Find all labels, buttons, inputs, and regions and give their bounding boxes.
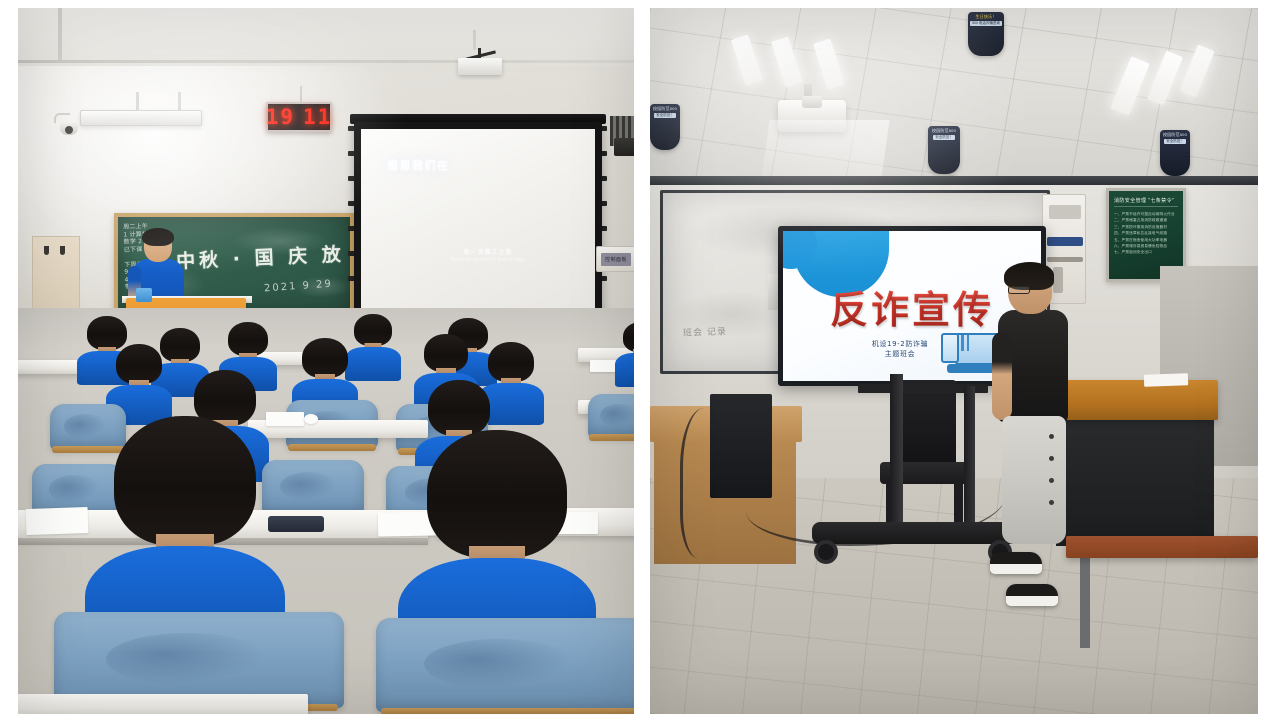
- student: [422, 430, 572, 636]
- paper-sheet: [304, 414, 318, 424]
- light-stem: [178, 92, 181, 112]
- wall-control-panel: 控制面板: [596, 246, 634, 272]
- paper-sheet: [590, 360, 616, 372]
- screen-subtitle-en: Believe yourself every day: [433, 257, 543, 264]
- screen-title-text: 感恩我们在: [387, 157, 450, 173]
- classroom-chair: [376, 618, 634, 712]
- poster-line: 七、严禁锁闭安全出口: [1114, 249, 1178, 255]
- hanging-sign-tag: 500 电话诈骗咨询: [970, 21, 1002, 26]
- classroom-chair: [588, 394, 634, 438]
- hanging-sign-tag: 安全防范！: [1164, 139, 1186, 144]
- hanging-sign: 校园防范500 安全防范！: [928, 126, 960, 174]
- glasses-icon: [1008, 286, 1030, 294]
- clock-hours: 19: [266, 107, 295, 128]
- student: [618, 322, 634, 380]
- hanging-sign-caption: 校园防范500: [932, 128, 956, 134]
- photo-collage: 19 11 周二上午 1 计算机基础 数学 2节 已下课 下周考试 9:00 开…: [0, 0, 1280, 720]
- poster-title: 消防安全管理 "七条禁令": [1114, 197, 1178, 207]
- presenting-student: [996, 266, 1074, 614]
- display-cart: [812, 374, 1020, 580]
- podium-body: [1056, 418, 1214, 546]
- wall-hook-icon: [60, 246, 65, 255]
- paper-sheet: [266, 412, 304, 426]
- smartphone-icon: [268, 516, 324, 532]
- student: [296, 338, 354, 408]
- control-panel-label: 控制面板: [601, 253, 631, 266]
- whiteboard-note: 班会 记录: [683, 324, 727, 339]
- screen-subtitle-cn: 每一天都工之路: [433, 249, 543, 257]
- ceiling-line: [58, 8, 62, 60]
- student: [110, 416, 260, 626]
- wall-trim: [650, 176, 1258, 185]
- classroom-chair: [262, 460, 364, 514]
- clock-stem: [300, 86, 302, 102]
- table-leg: [1080, 556, 1090, 648]
- wall-hook-icon: [44, 246, 49, 255]
- student: [348, 314, 398, 374]
- paper-sheet: [26, 507, 89, 535]
- hanging-sign: 生日快乐！ 500 电话诈骗咨询: [968, 12, 1004, 56]
- security-camera-icon: [54, 113, 80, 135]
- paper-sheet: [1144, 373, 1188, 387]
- clock-minutes: 11: [303, 107, 332, 128]
- water-bottle-icon: [136, 288, 152, 302]
- shoe-icon: [990, 552, 1042, 574]
- student-desk: [18, 694, 308, 714]
- hanging-sign-tag: 安全防范！: [654, 113, 676, 118]
- hanging-sign-tag: 安全防范！: [933, 135, 955, 140]
- ceiling-projector-icon: [458, 48, 502, 76]
- hanging-sign: 校园防范500 安全防范！: [1160, 130, 1190, 176]
- podium-top: [1050, 380, 1218, 420]
- fluorescent-light-icon: [80, 110, 202, 126]
- hanging-sign-caption: 校园防范500: [653, 106, 677, 112]
- left-classroom-photo: 19 11 周二上午 1 计算机基础 数学 2节 已下课 下周考试 9:00 开…: [18, 8, 634, 714]
- hanging-sign-caption: 校园防范500: [1163, 132, 1187, 138]
- caster-wheel-icon: [814, 540, 838, 564]
- cable: [680, 408, 740, 558]
- student: [110, 344, 168, 414]
- display-side-button[interactable]: [768, 274, 778, 310]
- projector-stem: [473, 30, 476, 50]
- shoe-icon: [1006, 584, 1058, 606]
- projection-screen: 感恩我们在 每一天都工之路 Believe yourself every day: [354, 122, 602, 316]
- digital-clock: 19 11: [266, 102, 332, 132]
- right-classroom-photo: 生日快乐！ 500 电话诈骗咨询 校园防范500 安全防范！ 校园防范500 安…: [650, 8, 1258, 714]
- ceiling: [18, 8, 634, 66]
- screen-subtitle-block: 每一天都工之路 Believe yourself every day: [433, 249, 543, 264]
- wall-speaker-icon: [614, 138, 634, 156]
- side-table: [1066, 536, 1258, 558]
- ceiling-seam: [18, 60, 634, 63]
- light-stem: [136, 92, 139, 112]
- hanging-sign: 校园防范500 安全防范！: [650, 104, 680, 150]
- hanging-sign-caption: 生日快乐！: [976, 14, 997, 20]
- ceiling-projector-icon: [778, 84, 846, 132]
